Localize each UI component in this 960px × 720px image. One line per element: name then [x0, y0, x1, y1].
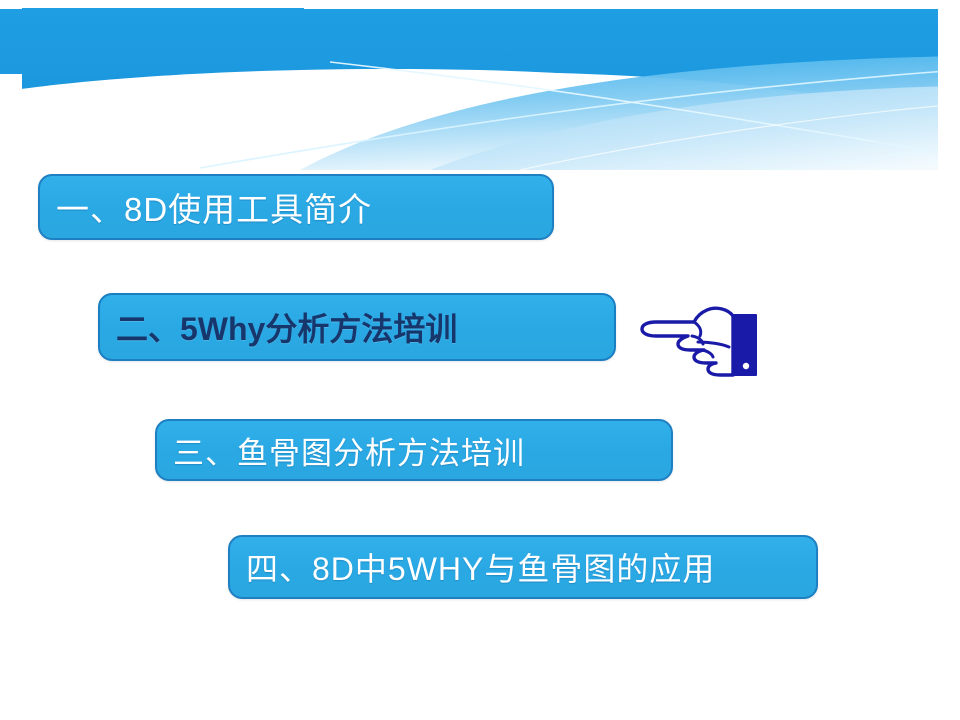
- agenda-item-4-label: 四、8D中5WHY与鱼骨图的应用: [246, 544, 715, 590]
- pointing-hand-glyph: [636, 296, 766, 386]
- agenda-item-4[interactable]: 四、8D中5WHY与鱼骨图的应用: [228, 535, 818, 599]
- agenda-item-3[interactable]: 三、鱼骨图分析方法培训: [155, 419, 673, 481]
- agenda-item-2-label: 二、5Why分析方法培训: [116, 304, 457, 350]
- agenda-item-1-label: 一、8D使用工具简介: [56, 183, 372, 231]
- slide-canvas: 一、8D使用工具简介 二、5Why分析方法培训 三、鱼骨图分析方法培训 四、8D…: [0, 0, 960, 720]
- agenda-list: 一、8D使用工具简介 二、5Why分析方法培训 三、鱼骨图分析方法培训 四、8D…: [0, 0, 960, 720]
- agenda-item-2-selected[interactable]: 二、5Why分析方法培训: [98, 293, 616, 361]
- agenda-item-3-label: 三、鱼骨图分析方法培训: [173, 428, 525, 473]
- pointing-hand-icon: [636, 296, 766, 386]
- agenda-item-1[interactable]: 一、8D使用工具简介: [38, 174, 554, 240]
